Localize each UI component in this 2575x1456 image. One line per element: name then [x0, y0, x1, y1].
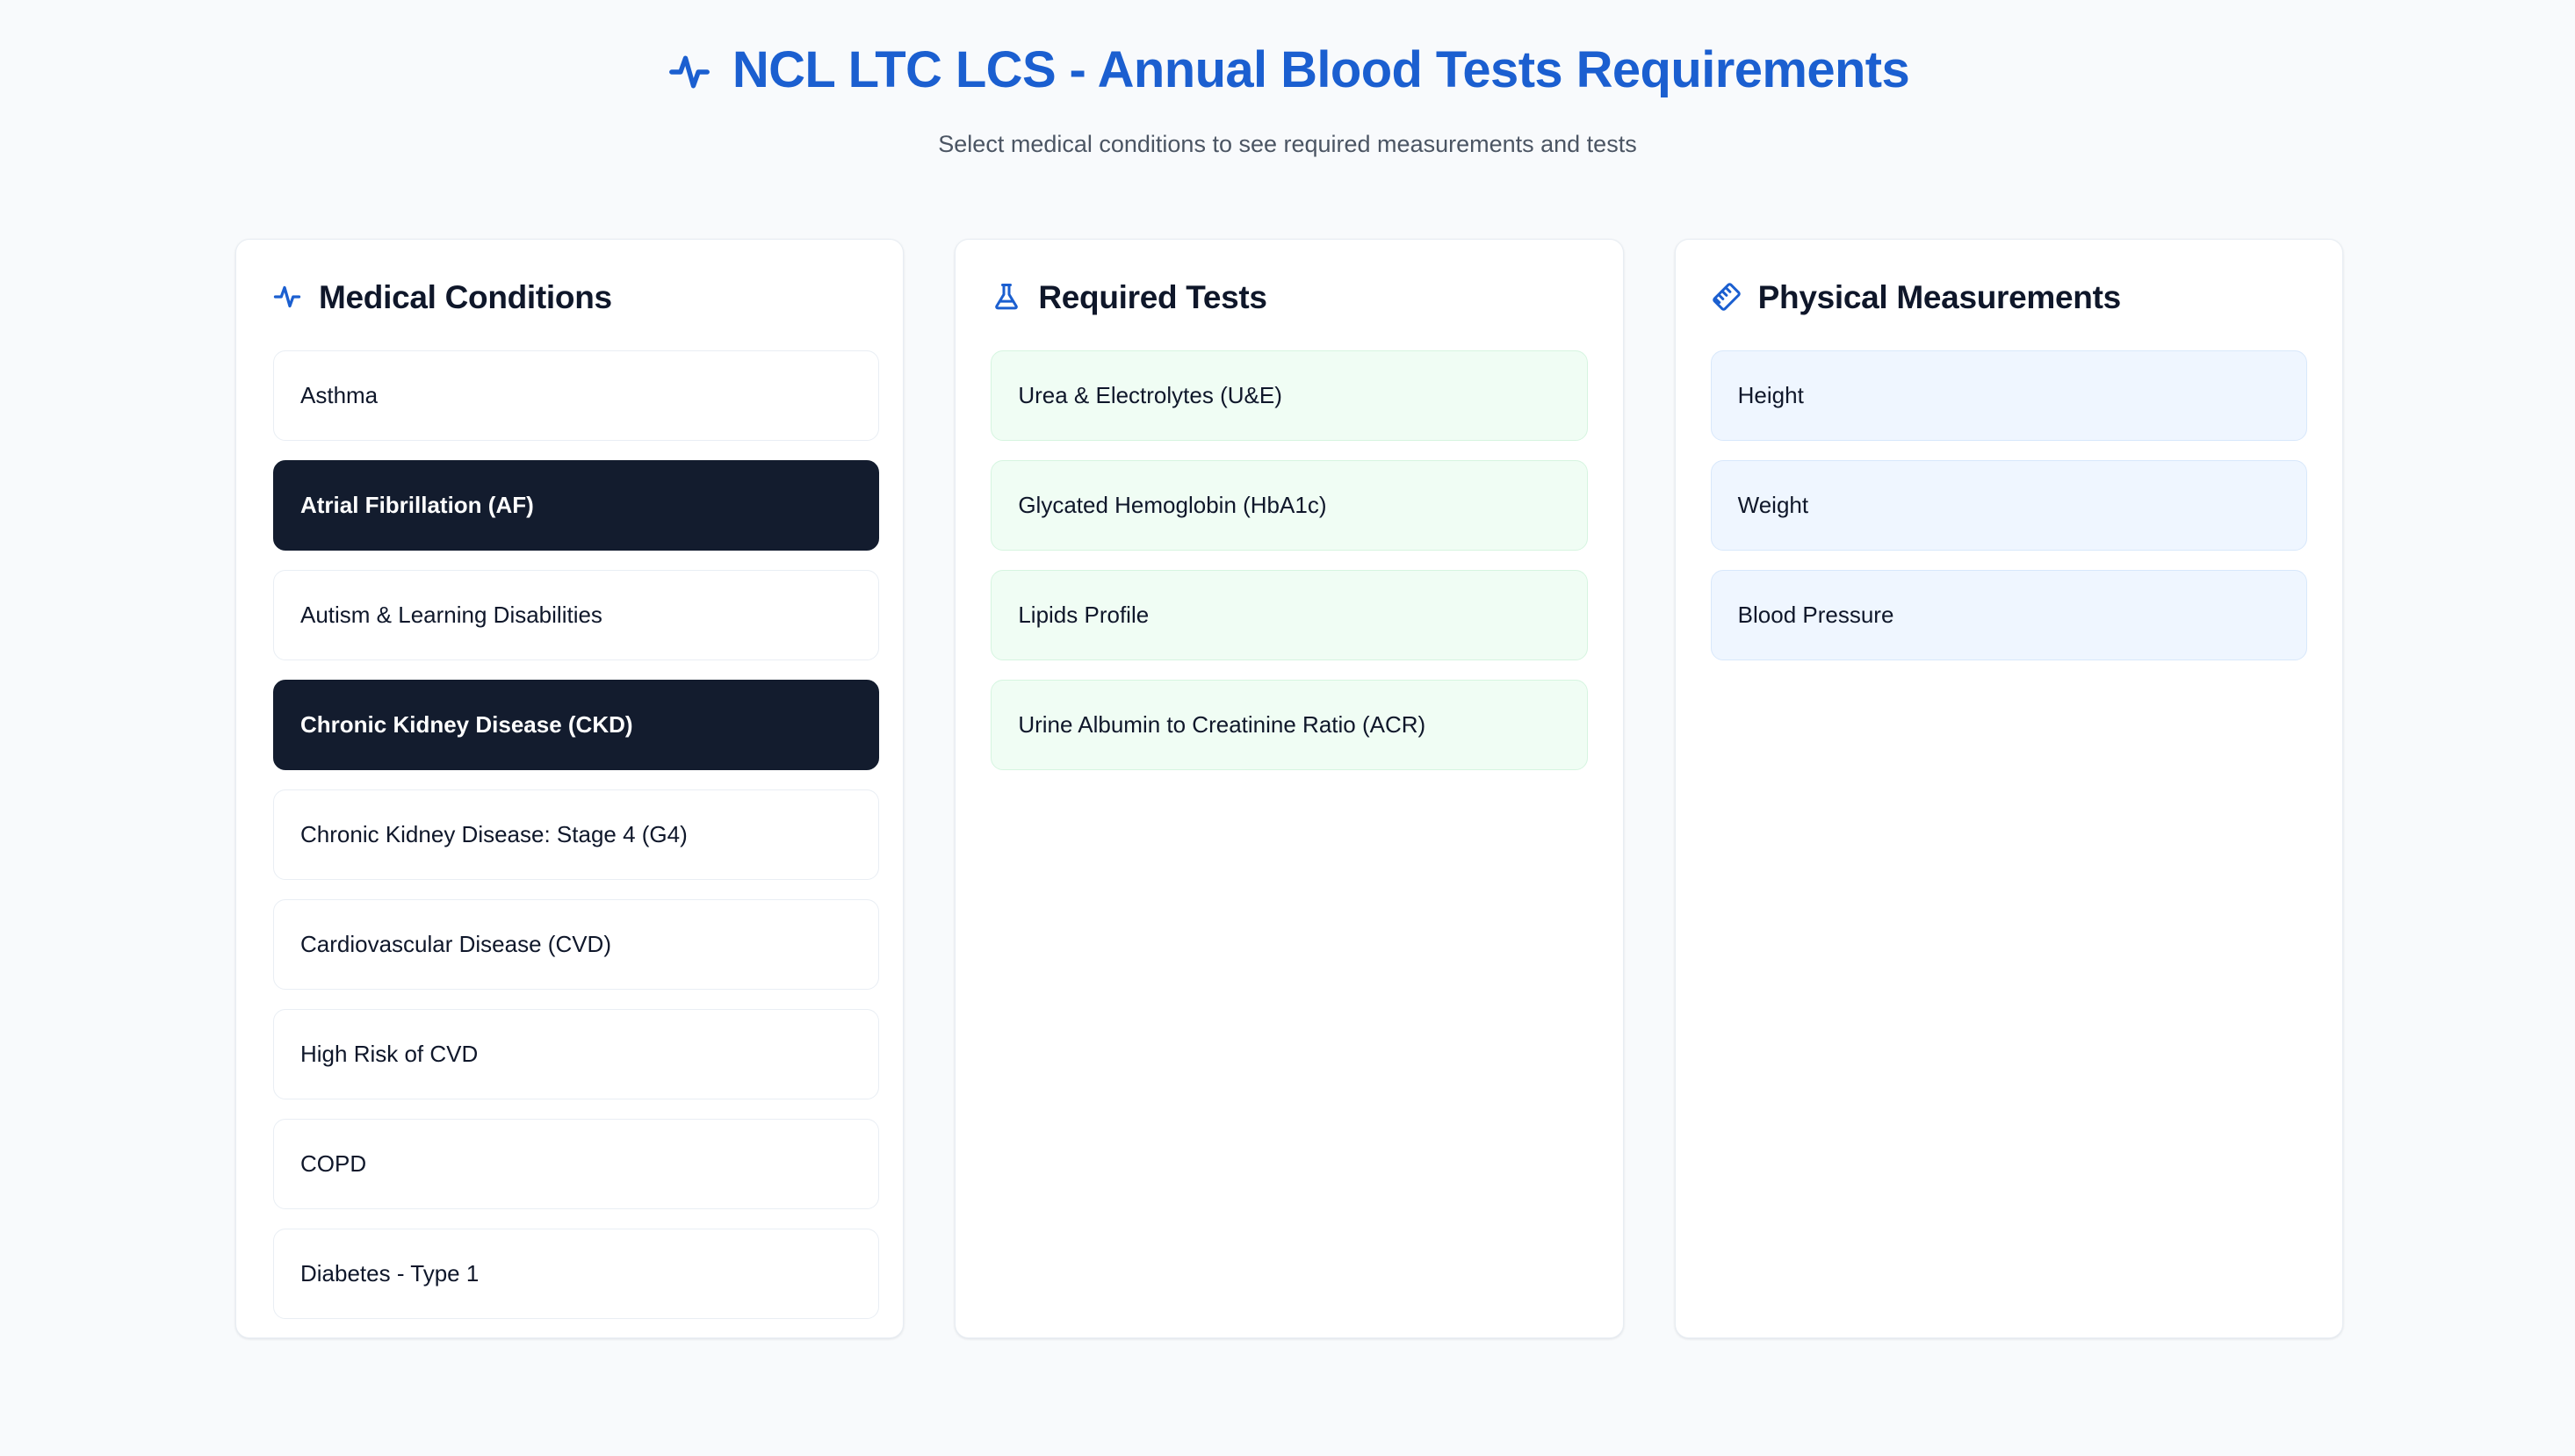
condition-item-label: Atrial Fibrillation (AF) [300, 492, 534, 519]
panel-title-required-tests: Required Tests [1038, 281, 1266, 314]
physical-measurement-label: Height [1738, 382, 1804, 409]
condition-item[interactable]: Chronic Kidney Disease (CKD) [273, 680, 879, 770]
condition-item[interactable]: Chronic Kidney Disease: Stage 4 (G4) [273, 789, 879, 880]
panel-required-tests: Required Tests Urea & Electrolytes (U&E)… [955, 239, 1623, 1338]
required-test-label: Lipids Profile [1018, 602, 1149, 629]
condition-item-label: COPD [300, 1150, 366, 1178]
required-test-label: Urea & Electrolytes (U&E) [1018, 382, 1282, 409]
panel-medical-conditions: Medical Conditions Asthma Atrial Fibrill… [235, 239, 904, 1338]
required-test-item[interactable]: Lipids Profile [991, 570, 1587, 660]
required-test-label: Glycated Hemoglobin (HbA1c) [1018, 492, 1326, 519]
condition-item[interactable]: Diabetes - Type 1 [273, 1229, 879, 1319]
physical-measurement-item[interactable]: Blood Pressure [1711, 570, 2307, 660]
app-root: NCL LTC LCS - Annual Blood Tests Require… [0, 0, 2575, 1456]
physical-measurement-item[interactable]: Height [1711, 350, 2307, 441]
panel-header-physical-measurements: Physical Measurements [1711, 277, 2307, 317]
condition-item-label: Cardiovascular Disease (CVD) [300, 931, 611, 958]
activity-pulse-icon [271, 281, 303, 313]
page-title: NCL LTC LCS - Annual Blood Tests Require… [732, 45, 1909, 96]
condition-item[interactable]: Cardiovascular Disease (CVD) [273, 899, 879, 990]
page-header: NCL LTC LCS - Annual Blood Tests Require… [0, 40, 2575, 158]
title-row: NCL LTC LCS - Annual Blood Tests Require… [0, 40, 2575, 100]
condition-item[interactable]: Asthma [273, 350, 879, 441]
panel-header-medical-conditions: Medical Conditions [271, 277, 868, 317]
condition-item-label: Chronic Kidney Disease (CKD) [300, 711, 633, 739]
required-test-item[interactable]: Glycated Hemoglobin (HbA1c) [991, 460, 1587, 551]
required-test-item[interactable]: Urine Albumin to Creatinine Ratio (ACR) [991, 680, 1587, 770]
condition-item-label: Asthma [300, 382, 378, 409]
required-test-item[interactable]: Urea & Electrolytes (U&E) [991, 350, 1587, 441]
panels-container: Medical Conditions Asthma Atrial Fibrill… [235, 239, 2343, 1338]
condition-item[interactable]: Atrial Fibrillation (AF) [273, 460, 879, 551]
panel-title-medical-conditions: Medical Conditions [319, 281, 612, 314]
physical-measurement-label: Blood Pressure [1738, 602, 1894, 629]
flask-icon [991, 281, 1022, 313]
ruler-icon [1711, 281, 1742, 313]
condition-item[interactable]: High Risk of CVD [273, 1009, 879, 1099]
condition-item-label: High Risk of CVD [300, 1041, 478, 1068]
condition-item[interactable]: COPD [273, 1119, 879, 1209]
condition-item[interactable]: Autism & Learning Disabilities [273, 570, 879, 660]
condition-item-label: Chronic Kidney Disease: Stage 4 (G4) [300, 821, 688, 848]
required-tests-list: Urea & Electrolytes (U&E) Glycated Hemog… [991, 350, 1587, 770]
activity-pulse-icon [666, 48, 713, 96]
physical-measurements-list: Height Weight Blood Pressure [1711, 350, 2307, 660]
physical-measurement-label: Weight [1738, 492, 1808, 519]
condition-item-label: Autism & Learning Disabilities [300, 602, 602, 629]
page-subtitle: Select medical conditions to see require… [0, 130, 2575, 158]
panel-header-required-tests: Required Tests [991, 277, 1587, 317]
condition-item-label: Diabetes - Type 1 [300, 1260, 479, 1287]
medical-conditions-list[interactable]: Asthma Atrial Fibrillation (AF) Autism &… [273, 350, 879, 1319]
panel-title-physical-measurements: Physical Measurements [1758, 281, 2121, 314]
panel-physical-measurements: Physical Measurements Height Weight Bloo… [1675, 239, 2343, 1338]
physical-measurement-item[interactable]: Weight [1711, 460, 2307, 551]
required-test-label: Urine Albumin to Creatinine Ratio (ACR) [1018, 711, 1425, 739]
